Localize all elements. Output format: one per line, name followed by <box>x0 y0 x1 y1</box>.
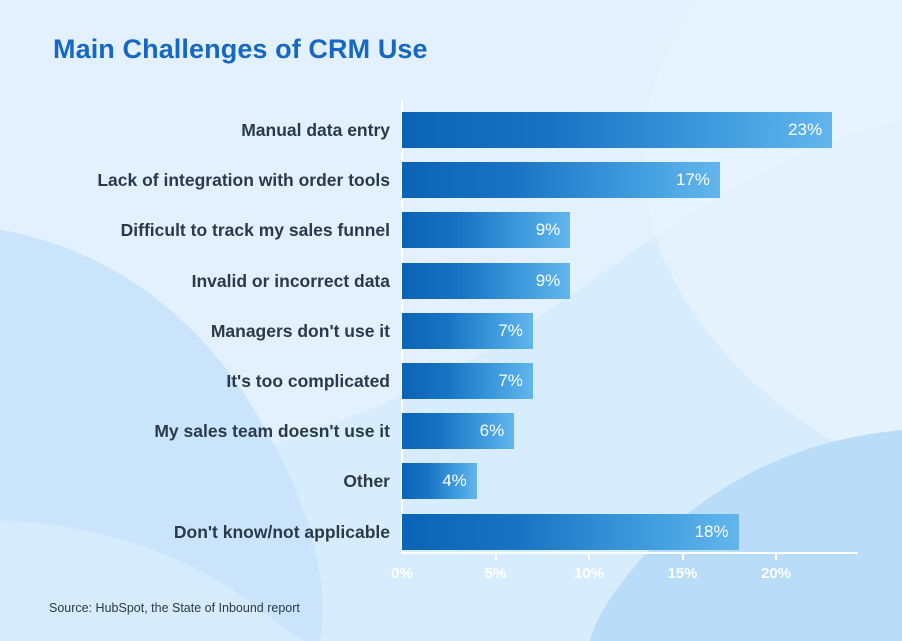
bar[interactable] <box>402 112 832 148</box>
category-label: Managers don't use it <box>22 313 402 349</box>
bar[interactable] <box>402 514 739 550</box>
bar-row: Difficult to track my sales funnel9% <box>0 212 902 248</box>
x-axis-tick-label: 20% <box>761 565 791 582</box>
x-axis-tick-label: 5% <box>485 565 507 582</box>
category-label: Manual data entry <box>22 112 402 148</box>
x-axis-tick-label: 0% <box>391 565 413 582</box>
bar-value-label: 9% <box>536 212 561 248</box>
category-label: Difficult to track my sales funnel <box>22 212 402 248</box>
bar-row: Lack of integration with order tools17% <box>0 162 902 198</box>
bar-value-label: 9% <box>536 263 561 299</box>
bar-value-label: 4% <box>442 463 467 499</box>
x-axis-tick-mark <box>682 552 684 560</box>
chart-canvas: Main Challenges of CRM Use Manual data e… <box>0 0 902 641</box>
bar-value-label: 17% <box>676 162 710 198</box>
bar-row: Managers don't use it7% <box>0 313 902 349</box>
bar-value-label: 7% <box>498 363 523 399</box>
bar-value-label: 18% <box>695 514 729 550</box>
bar-row: It's too complicated7% <box>0 363 902 399</box>
x-axis-tick-label: 15% <box>667 565 697 582</box>
category-label: Lack of integration with order tools <box>22 162 402 198</box>
bar-row: Don't know/not applicable18% <box>0 514 902 550</box>
plot-area: Manual data entry23%Lack of integration … <box>0 0 902 641</box>
source-note: Source: HubSpot, the State of Inbound re… <box>49 601 300 615</box>
bar-row: Invalid or incorrect data9% <box>0 263 902 299</box>
x-axis-tick-mark <box>495 552 497 560</box>
bar-value-label: 6% <box>480 413 505 449</box>
bar-row: Manual data entry23% <box>0 112 902 148</box>
x-axis-tick-label: 10% <box>574 565 604 582</box>
category-label: Invalid or incorrect data <box>22 263 402 299</box>
x-axis-line <box>401 552 858 554</box>
x-axis-tick-mark <box>775 552 777 560</box>
bar-value-label: 7% <box>498 313 523 349</box>
category-label: Don't know/not applicable <box>22 514 402 550</box>
bar-value-label: 23% <box>788 112 822 148</box>
x-axis-tick-mark <box>588 552 590 560</box>
bar-row: My sales team doesn't use it6% <box>0 413 902 449</box>
category-label: Other <box>22 463 402 499</box>
category-label: It's too complicated <box>22 363 402 399</box>
category-label: My sales team doesn't use it <box>22 413 402 449</box>
bar-row: Other4% <box>0 463 902 499</box>
bar[interactable] <box>402 162 720 198</box>
